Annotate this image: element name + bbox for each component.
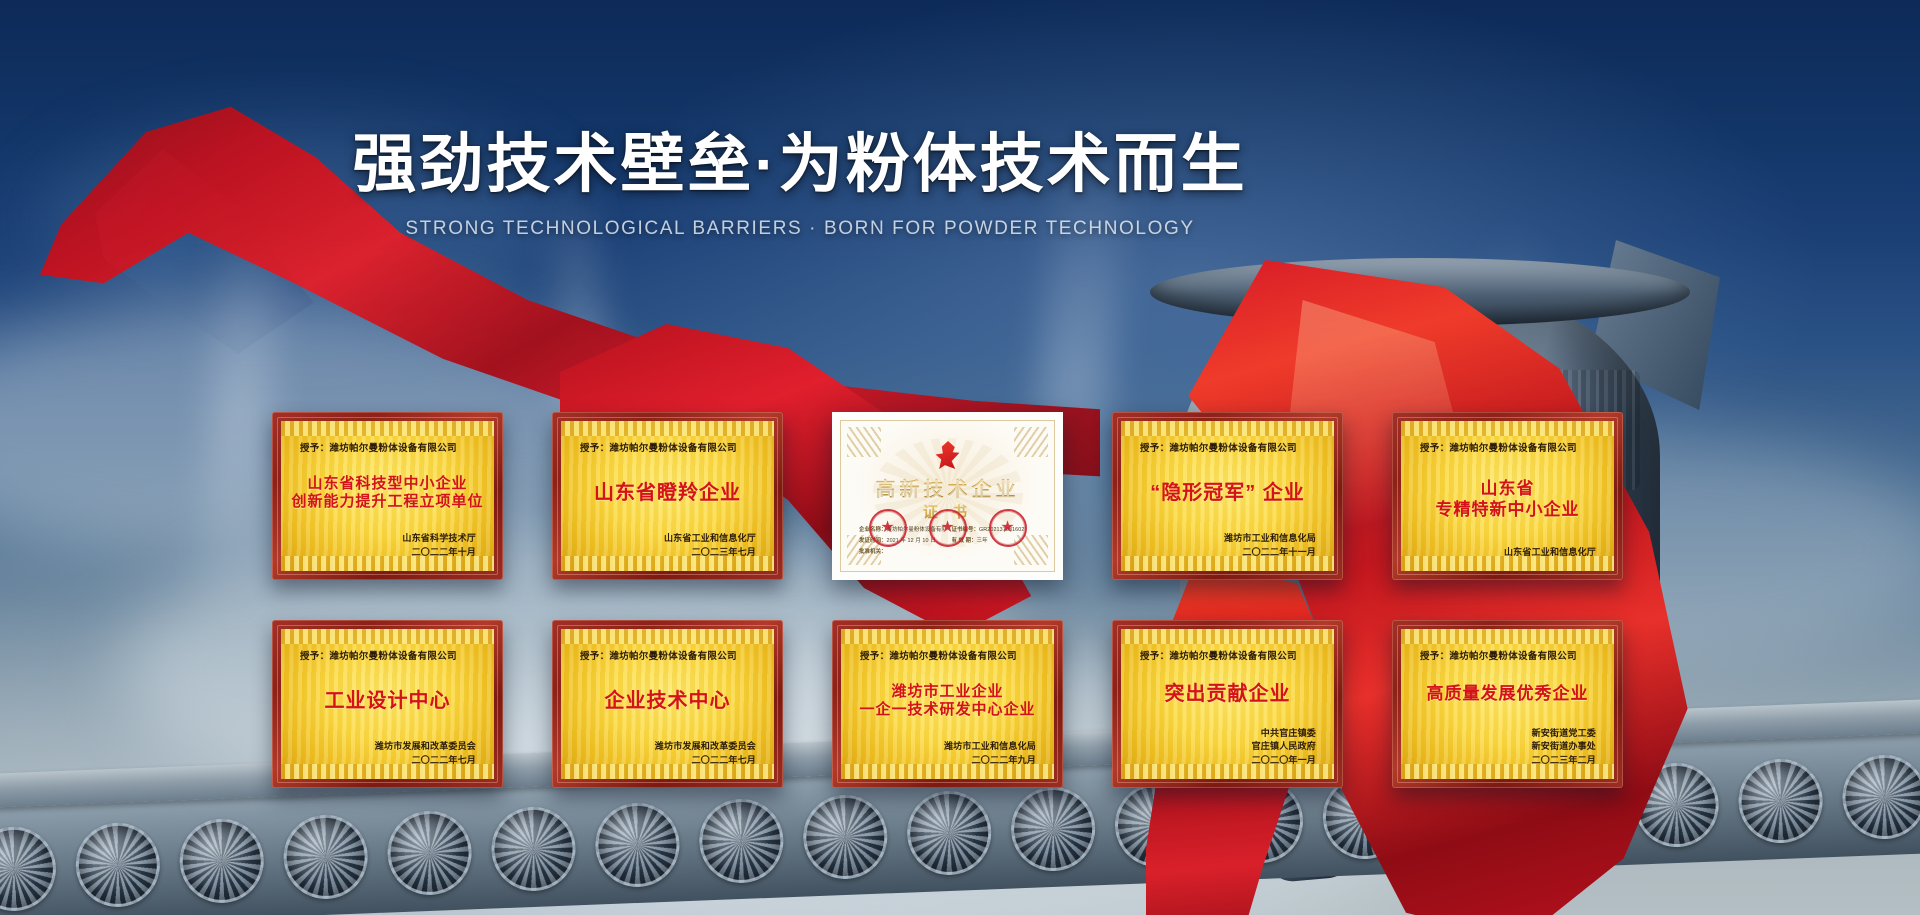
plaque-title-line: 创新能力提升工程立项单位 <box>292 493 484 511</box>
plaque-footer-line: 潍坊市工业和信息化局 <box>856 740 1036 754</box>
plaque-face: 授予：潍坊帕尔曼粉体设备有限公司企业技术中心潍坊市发展和改革委员会二〇二二年七月 <box>561 629 774 779</box>
plaque-title: 山东省科技型中小企业创新能力提升工程立项单位 <box>296 454 479 532</box>
plaque-frame[interactable]: 授予：潍坊帕尔曼粉体设备有限公司突出贡献企业中共官庄镇委官庄镇人民政府二〇二〇年… <box>1112 620 1343 788</box>
plaque-title-line: 山东省 <box>1481 479 1535 500</box>
certificate-card[interactable]: 高新技术企业证 书企业名称：潍坊帕尔曼粉体设备有限公司证书编号：GR202137… <box>832 412 1063 580</box>
plaque-title-line: “隐形冠军” 企业 <box>1150 481 1305 505</box>
plaque-title: 潍坊市工业企业一企一技术研发中心企业 <box>856 662 1039 740</box>
plaque-award-line: 授予：潍坊帕尔曼粉体设备有限公司 <box>580 648 759 662</box>
plaque-award-line: 授予：潍坊帕尔曼粉体设备有限公司 <box>1420 440 1599 454</box>
plaque-title: 突出贡献企业 <box>1136 662 1319 727</box>
plaque-award-line: 授予：潍坊帕尔曼粉体设备有限公司 <box>1420 648 1599 662</box>
plaque-footer-line: 潍坊市工业和信息化局 <box>1136 532 1316 546</box>
plaque-footer-line: 二〇二二年九月 <box>856 754 1036 768</box>
honors-row: 授予：潍坊帕尔曼粉体设备有限公司山东省科技型中小企业创新能力提升工程立项单位山东… <box>272 412 1652 580</box>
plaque-title-line: 山东省科技型中小企业 <box>307 475 467 493</box>
balustrade-medallion <box>1841 753 1920 840</box>
plaque-title: 山东省瞪羚企业 <box>576 454 759 532</box>
plaque-face: 授予：潍坊帕尔曼粉体设备有限公司“隐形冠军” 企业潍坊市工业和信息化局二〇二二年… <box>1121 421 1334 571</box>
seal-1-icon: ★ <box>869 509 907 547</box>
plaque-frame[interactable]: 授予：潍坊帕尔曼粉体设备有限公司“隐形冠军” 企业潍坊市工业和信息化局二〇二二年… <box>1112 412 1343 580</box>
balustrade-medallion <box>0 825 57 912</box>
plaque-title-line: 潍坊市工业企业 <box>891 683 1003 701</box>
plaque-title: 企业技术中心 <box>576 662 759 740</box>
plaque-footer-line: 潍坊市发展和改革委员会 <box>296 740 476 754</box>
plaque-award-line: 授予：潍坊帕尔曼粉体设备有限公司 <box>300 440 479 454</box>
plaque-footer: 潍坊市发展和改革委员会二〇二二年七月 <box>576 740 759 769</box>
seal-2-icon: ★ <box>929 509 967 547</box>
plaque-face: 授予：潍坊帕尔曼粉体设备有限公司山东省瞪羚企业山东省工业和信息化厅二〇二三年七月 <box>561 421 774 571</box>
plaque-award-line: 授予：潍坊帕尔曼粉体设备有限公司 <box>580 440 759 454</box>
plaque-footer-line: 山东省工业和信息化厅 <box>1416 546 1596 560</box>
ding-rim <box>1150 258 1690 326</box>
plaque-title: 山东省专精特新中小企业 <box>1416 454 1599 546</box>
award-plaque[interactable]: 授予：潍坊帕尔曼粉体设备有限公司企业技术中心潍坊市发展和改革委员会二〇二二年七月 <box>552 620 783 788</box>
award-plaque[interactable]: 授予：潍坊帕尔曼粉体设备有限公司山东省专精特新中小企业山东省工业和信息化厅 <box>1392 412 1623 580</box>
plaque-award-line: 授予：潍坊帕尔曼粉体设备有限公司 <box>860 648 1039 662</box>
certificate-field: 批准机关： <box>859 547 944 555</box>
plaque-face: 授予：潍坊帕尔曼粉体设备有限公司高质量发展优秀企业新安街道党工委新安街道办事处二… <box>1401 629 1614 779</box>
balustrade-medallion <box>178 817 265 904</box>
plaque-footer: 潍坊市工业和信息化局二〇二二年九月 <box>856 740 1039 769</box>
page-title: 强劲技术壁垒·为粉体技术而生 <box>0 128 1600 202</box>
plaque-footer-line: 官庄镇人民政府 <box>1136 740 1316 754</box>
plaque-title-line: 一企一技术研发中心企业 <box>859 701 1035 719</box>
plaque-frame[interactable]: 授予：潍坊帕尔曼粉体设备有限公司山东省瞪羚企业山东省工业和信息化厅二〇二三年七月 <box>552 412 783 580</box>
plaque-frame[interactable]: 授予：潍坊帕尔曼粉体设备有限公司工业设计中心潍坊市发展和改革委员会二〇二二年七月 <box>272 620 503 788</box>
plaque-frame[interactable]: 授予：潍坊帕尔曼粉体设备有限公司企业技术中心潍坊市发展和改革委员会二〇二二年七月 <box>552 620 783 788</box>
certificate-seals: ★★★ <box>841 509 1054 547</box>
balustrade-medallion <box>74 821 161 908</box>
award-plaque[interactable]: 授予：潍坊帕尔曼粉体设备有限公司潍坊市工业企业一企一技术研发中心企业潍坊市工业和… <box>832 620 1063 788</box>
certificate-border: 高新技术企业证 书企业名称：潍坊帕尔曼粉体设备有限公司证书编号：GR202137… <box>840 420 1055 572</box>
plaque-face: 授予：潍坊帕尔曼粉体设备有限公司山东省科技型中小企业创新能力提升工程立项单位山东… <box>281 421 494 571</box>
plaque-footer: 新安街道党工委新安街道办事处二〇二三年二月 <box>1416 727 1599 770</box>
certificate-corner-ornament <box>1014 427 1048 457</box>
plaque-frame[interactable]: 授予：潍坊帕尔曼粉体设备有限公司潍坊市工业企业一企一技术研发中心企业潍坊市工业和… <box>832 620 1063 788</box>
certificate-corner-ornament <box>847 427 881 457</box>
honors-row: 授予：潍坊帕尔曼粉体设备有限公司工业设计中心潍坊市发展和改革委员会二〇二二年七月… <box>272 620 1652 788</box>
plaque-title-line: 高质量发展优秀企业 <box>1427 684 1589 705</box>
plaque-award-line: 授予：潍坊帕尔曼粉体设备有限公司 <box>1140 440 1319 454</box>
plaque-footer-line: 山东省工业和信息化厅 <box>576 532 756 546</box>
award-plaque[interactable]: 授予：潍坊帕尔曼粉体设备有限公司山东省瞪羚企业山东省工业和信息化厅二〇二三年七月 <box>552 412 783 580</box>
plaque-award-line: 授予：潍坊帕尔曼粉体设备有限公司 <box>1140 648 1319 662</box>
plaque-footer-line: 二〇二二年七月 <box>296 754 476 768</box>
plaque-footer-line: 新安街道办事处 <box>1416 740 1596 754</box>
plaque-title-line: 山东省瞪羚企业 <box>594 481 741 505</box>
plaque-footer: 山东省工业和信息化厅二〇二三年七月 <box>576 532 759 561</box>
honors-grid: 授予：潍坊帕尔曼粉体设备有限公司山东省科技型中小企业创新能力提升工程立项单位山东… <box>272 412 1652 828</box>
plaque-title-line: 工业设计中心 <box>325 689 451 713</box>
banner-stage: 强劲技术壁垒·为粉体技术而生 STRONG TECHNOLOGICAL BARR… <box>0 0 1920 915</box>
plaque-face: 授予：潍坊帕尔曼粉体设备有限公司突出贡献企业中共官庄镇委官庄镇人民政府二〇二〇年… <box>1121 629 1334 779</box>
plaque-frame[interactable]: 授予：潍坊帕尔曼粉体设备有限公司山东省科技型中小企业创新能力提升工程立项单位山东… <box>272 412 503 580</box>
plaque-face: 授予：潍坊帕尔曼粉体设备有限公司工业设计中心潍坊市发展和改革委员会二〇二二年七月 <box>281 629 494 779</box>
plaque-footer: 山东省工业和信息化厅 <box>1416 546 1599 562</box>
plaque-footer-line: 二〇二〇年一月 <box>1136 754 1316 768</box>
plaque-footer-line: 二〇二三年二月 <box>1416 754 1596 768</box>
certificate-field-label: 批准机关： <box>859 549 886 555</box>
banner-heading: 强劲技术壁垒·为粉体技术而生 STRONG TECHNOLOGICAL BARR… <box>0 128 1600 240</box>
plaque-footer-line: 二〇二二年七月 <box>576 754 756 768</box>
seal-3-icon: ★ <box>989 509 1027 547</box>
plaque-award-line: 授予：潍坊帕尔曼粉体设备有限公司 <box>300 648 479 662</box>
plaque-footer: 潍坊市发展和改革委员会二〇二二年七月 <box>296 740 479 769</box>
plaque-title-line: 企业技术中心 <box>605 689 731 713</box>
plaque-footer-line: 山东省科学技术厅 <box>296 532 476 546</box>
plaque-title: “隐形冠军” 企业 <box>1136 454 1319 532</box>
plaque-face: 授予：潍坊帕尔曼粉体设备有限公司山东省专精特新中小企业山东省工业和信息化厅 <box>1401 421 1614 571</box>
plaque-footer-line: 二〇二二年十一月 <box>1136 546 1316 560</box>
plaque-title: 高质量发展优秀企业 <box>1416 662 1599 727</box>
plaque-footer: 中共官庄镇委官庄镇人民政府二〇二〇年一月 <box>1136 727 1319 770</box>
plaque-title-line: 专精特新中小企业 <box>1436 500 1580 521</box>
plaque-face: 授予：潍坊帕尔曼粉体设备有限公司潍坊市工业企业一企一技术研发中心企业潍坊市工业和… <box>841 629 1054 779</box>
award-plaque[interactable]: 授予：潍坊帕尔曼粉体设备有限公司高质量发展优秀企业新安街道党工委新安街道办事处二… <box>1392 620 1623 788</box>
award-plaque[interactable]: 授予：潍坊帕尔曼粉体设备有限公司突出贡献企业中共官庄镇委官庄镇人民政府二〇二〇年… <box>1112 620 1343 788</box>
plaque-title: 工业设计中心 <box>296 662 479 740</box>
plaque-footer-line: 潍坊市发展和改革委员会 <box>576 740 756 754</box>
award-plaque[interactable]: 授予：潍坊帕尔曼粉体设备有限公司工业设计中心潍坊市发展和改革委员会二〇二二年七月 <box>272 620 503 788</box>
award-plaque[interactable]: 授予：潍坊帕尔曼粉体设备有限公司山东省科技型中小企业创新能力提升工程立项单位山东… <box>272 412 503 580</box>
plaque-title-line: 突出贡献企业 <box>1165 682 1291 706</box>
plaque-frame[interactable]: 授予：潍坊帕尔曼粉体设备有限公司山东省专精特新中小企业山东省工业和信息化厅 <box>1392 412 1623 580</box>
certificate-hi-tech-enterprise[interactable]: 高新技术企业证 书企业名称：潍坊帕尔曼粉体设备有限公司证书编号：GR202137… <box>832 412 1063 580</box>
page-subtitle: STRONG TECHNOLOGICAL BARRIERS · BORN FOR… <box>0 218 1600 240</box>
plaque-footer-line: 二〇二三年七月 <box>576 546 756 560</box>
plaque-footer: 潍坊市工业和信息化局二〇二二年十一月 <box>1136 532 1319 561</box>
award-plaque[interactable]: 授予：潍坊帕尔曼粉体设备有限公司“隐形冠军” 企业潍坊市工业和信息化局二〇二二年… <box>1112 412 1343 580</box>
plaque-frame[interactable]: 授予：潍坊帕尔曼粉体设备有限公司高质量发展优秀企业新安街道党工委新安街道办事处二… <box>1392 620 1623 788</box>
plaque-footer-line: 新安街道党工委 <box>1416 727 1596 741</box>
plaque-footer-line: 二〇二二年十月 <box>296 546 476 560</box>
balustrade-medallion <box>1737 757 1824 844</box>
plaque-footer-line: 中共官庄镇委 <box>1136 727 1316 741</box>
plaque-footer: 山东省科学技术厅二〇二二年十月 <box>296 532 479 561</box>
certificate-title: 高新技术企业 <box>841 473 1054 502</box>
